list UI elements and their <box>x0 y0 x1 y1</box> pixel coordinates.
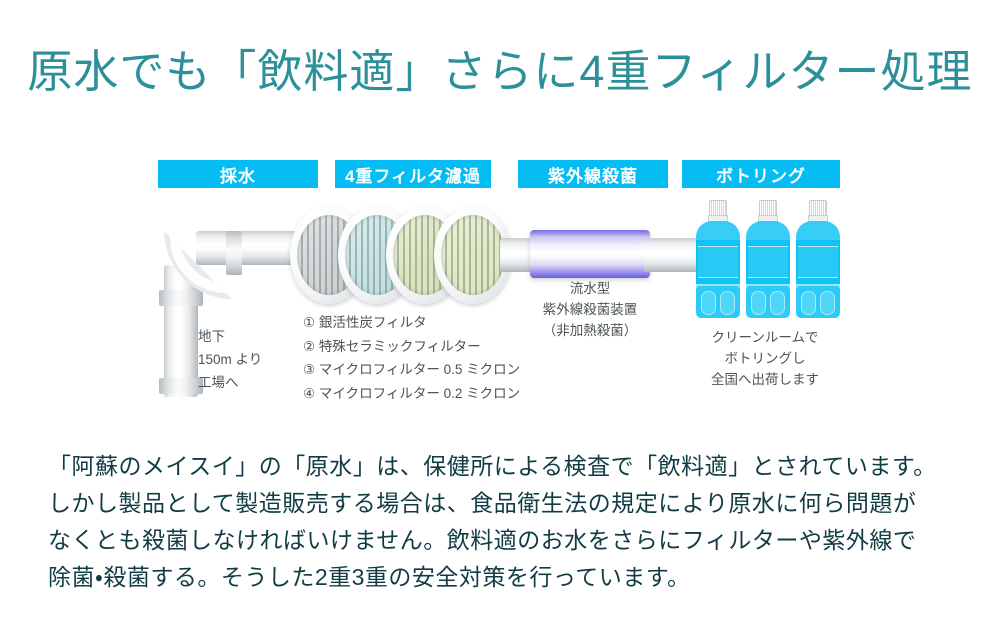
bottling-caption: クリーンルームで ボトリングし 全国へ出荷します <box>685 327 845 390</box>
intake-caption: 地下 150m より 工場へ <box>198 325 262 394</box>
process-diagram: 地下 150m より 工場へ ① 銀活性炭フィルタ ② 特殊セラミックフィルター… <box>0 0 1000 430</box>
intake-pipe-collar-bottom <box>159 378 203 394</box>
bottle-panel-left <box>801 291 816 315</box>
bottle-panel-right <box>720 291 735 315</box>
filter-list: ① 銀活性炭フィルタ ② 特殊セラミックフィルター ③ マイクロフィルター 0.… <box>303 311 520 405</box>
bottle-cap-icon <box>709 200 727 215</box>
pipe-collar-1 <box>226 231 242 275</box>
bottle-label <box>698 246 738 278</box>
bottle-1 <box>694 200 742 318</box>
bottle-panel-right <box>820 291 835 315</box>
intake-pipe-collar-lower <box>159 290 203 306</box>
bottle-cap-icon <box>759 200 777 215</box>
filter-disc-4-media <box>441 215 505 295</box>
bottle-panel-left <box>701 291 716 315</box>
uv-sterilizer-unit <box>530 230 650 278</box>
bottle-2 <box>744 200 792 318</box>
uv-caption: 流水型 紫外線殺菌装置 （非加熱殺菌） <box>510 278 670 341</box>
bottle-label <box>798 246 838 278</box>
page-root: 原水でも「飲料適」さらに4重フィルター処理 採水 4重フィルタ濾過 紫外線殺菌 … <box>0 0 1000 621</box>
bottle-cap-icon <box>809 200 827 215</box>
bottle-3 <box>794 200 842 318</box>
bottle-label <box>748 246 788 278</box>
bottle-panel-left <box>751 291 766 315</box>
bottle-panel-right <box>770 291 785 315</box>
description-paragraph: 「阿蘇のメイスイ」の「原水」は、保健所による検査で「飲料適」とされています。 し… <box>48 448 958 596</box>
